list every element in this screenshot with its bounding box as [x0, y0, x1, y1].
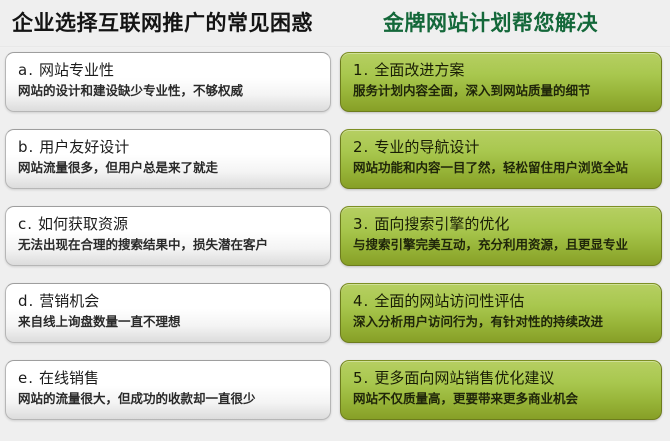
solution-card-title-text: 专业的导航设计	[374, 138, 479, 156]
problem-card-description: 网站流量很多，但用户总是来了就走	[18, 158, 318, 178]
solution-card-description: 与搜索引擎完美互动，充分利用资源，且更显专业	[353, 235, 649, 255]
problem-card-title: b.用户友好设计	[18, 136, 318, 158]
solution-card-marker: 1.	[353, 61, 369, 79]
solution-card-title: 4.全面的网站访问性评估	[353, 290, 649, 312]
heading-divider	[0, 46, 670, 48]
problem-card-marker: d.	[18, 292, 34, 310]
problems-heading: 企业选择互联网推广的常见困惑	[12, 9, 313, 37]
problem-card-title: d.营销机会	[18, 290, 318, 312]
problem-card-title-text: 如何获取资源	[38, 215, 128, 233]
solution-card[interactable]: 3.面向搜索引擎的优化 与搜索引擎完美互动，充分利用资源，且更显专业	[340, 206, 662, 266]
problem-card[interactable]: c.如何获取资源 无法出现在合理的搜索结果中，损失潜在客户	[5, 206, 331, 266]
problem-card-title: e.在线销售	[18, 367, 318, 389]
problems-column: a.网站专业性 网站的设计和建设缺少专业性，不够权威 b.用户友好设计 网站流量…	[5, 52, 331, 420]
problem-card-marker: e.	[18, 369, 34, 387]
headings-row: 企业选择互联网推广的常见困惑 金牌网站计划帮您解决	[0, 0, 670, 50]
problem-card-description: 来自线上询盘数量一直不理想	[18, 312, 318, 332]
solution-card[interactable]: 1.全面改进方案 服务计划内容全面，深入到网站质量的细节	[340, 52, 662, 112]
problem-card-marker: b.	[18, 138, 34, 156]
problem-card[interactable]: e.在线销售 网站的流量很大，但成功的收款却一直很少	[5, 360, 331, 420]
solution-card-description: 网站功能和内容一目了然，轻松留住用户浏览全站	[353, 158, 649, 178]
comparison-panel: 企业选择互联网推广的常见困惑 金牌网站计划帮您解决 a.网站专业性 网站的设计和…	[0, 0, 670, 441]
problem-card-description: 网站的设计和建设缺少专业性，不够权威	[18, 81, 318, 101]
problem-card-marker: a.	[18, 61, 34, 79]
solution-card-title: 3.面向搜索引擎的优化	[353, 213, 649, 235]
problem-card-title-text: 在线销售	[39, 369, 99, 387]
solutions-column: 1.全面改进方案 服务计划内容全面，深入到网站质量的细节 2.专业的导航设计 网…	[340, 52, 666, 420]
solution-card-description: 网站不仅质量高，更要带来更多商业机会	[353, 389, 649, 409]
problem-card[interactable]: b.用户友好设计 网站流量很多，但用户总是来了就走	[5, 129, 331, 189]
solution-card-marker: 2.	[353, 138, 369, 156]
solution-card-description: 服务计划内容全面，深入到网站质量的细节	[353, 81, 649, 101]
solution-card-title: 5.更多面向网站销售优化建议	[353, 367, 649, 389]
solution-card[interactable]: 4.全面的网站访问性评估 深入分析用户访问行为，有针对性的持续改进	[340, 283, 662, 343]
solution-card-marker: 5.	[353, 369, 369, 387]
solution-card-marker: 3.	[353, 215, 369, 233]
solution-card-title-text: 面向搜索引擎的优化	[374, 215, 509, 233]
problem-card[interactable]: a.网站专业性 网站的设计和建设缺少专业性，不够权威	[5, 52, 331, 112]
solution-card-title: 1.全面改进方案	[353, 59, 649, 81]
solution-card-title-text: 更多面向网站销售优化建议	[374, 369, 554, 387]
solution-card-title-text: 全面的网站访问性评估	[374, 292, 524, 310]
solution-card[interactable]: 5.更多面向网站销售优化建议 网站不仅质量高，更要带来更多商业机会	[340, 360, 662, 420]
solution-card-title: 2.专业的导航设计	[353, 136, 649, 158]
problem-card-title-text: 用户友好设计	[39, 138, 129, 156]
problem-card-marker: c.	[18, 215, 33, 233]
columns-container: a.网站专业性 网站的设计和建设缺少专业性，不够权威 b.用户友好设计 网站流量…	[0, 52, 670, 441]
problem-card[interactable]: d.营销机会 来自线上询盘数量一直不理想	[5, 283, 331, 343]
problem-card-description: 网站的流量很大，但成功的收款却一直很少	[18, 389, 318, 409]
problem-card-title: c.如何获取资源	[18, 213, 318, 235]
problem-card-title-text: 网站专业性	[39, 61, 114, 79]
problem-card-title: a.网站专业性	[18, 59, 318, 81]
solution-card[interactable]: 2.专业的导航设计 网站功能和内容一目了然，轻松留住用户浏览全站	[340, 129, 662, 189]
problem-card-description: 无法出现在合理的搜索结果中，损失潜在客户	[18, 235, 318, 255]
solution-card-marker: 4.	[353, 292, 369, 310]
solution-card-title-text: 全面改进方案	[374, 61, 464, 79]
problem-card-title-text: 营销机会	[39, 292, 99, 310]
solutions-heading: 金牌网站计划帮您解决	[383, 9, 598, 37]
solution-card-description: 深入分析用户访问行为，有针对性的持续改进	[353, 312, 649, 332]
